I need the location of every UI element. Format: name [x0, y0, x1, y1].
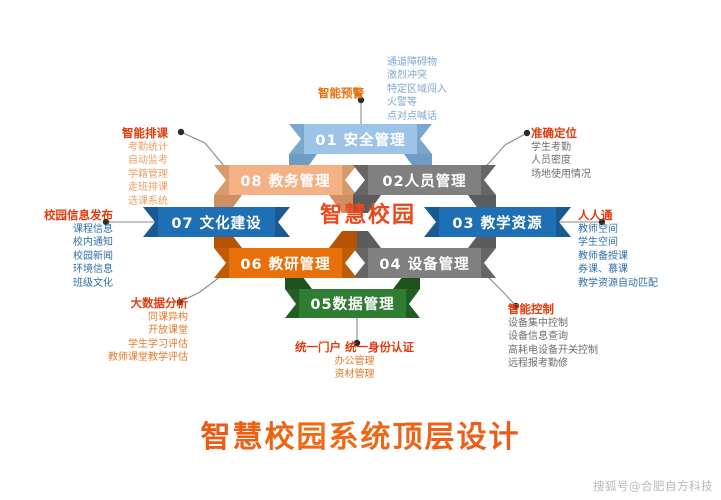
list-item: 特定区域闯入	[387, 83, 447, 96]
annotation-warning-head: 智能预警	[318, 86, 364, 101]
annotation-smart-control-head: 智能控制	[508, 302, 598, 317]
annotation-warning: 智能预警	[318, 86, 364, 101]
list-item: 火警等	[387, 96, 447, 109]
block-06-label: 06 教研管理	[240, 253, 330, 274]
annotation-portal-head: 统一门户 统一身份认证	[295, 340, 414, 355]
list-item: 通道障碍物	[387, 56, 447, 69]
block-03-label: 03 教学资源	[452, 212, 542, 233]
list-item: 自动监考	[122, 154, 168, 167]
center-wordmark: 智慧校园	[303, 197, 433, 229]
list-item: 校园新闻	[44, 250, 113, 263]
annotation-campus-info: 校园信息发布 课程信息 校内通知 校园新闻 环境信息 班级文化	[44, 208, 113, 290]
block-08-academic-affairs[interactable]: 08 教务管理	[229, 165, 342, 195]
annotation-bigdata-head: 大数据分析	[108, 296, 188, 311]
list-item: 走班排课	[122, 181, 168, 194]
block-04-label: 04 设备管理	[379, 253, 469, 274]
list-item: 教师课堂教学评估	[108, 351, 188, 364]
page-title: 智慧校园系统顶层设计	[0, 412, 721, 456]
list-item: 券课、慕课	[578, 263, 658, 276]
block-03-teaching-resources[interactable]: 03 教学资源	[439, 207, 556, 237]
list-item: 人员密度	[531, 154, 591, 167]
annotation-campus-info-head: 校园信息发布	[44, 208, 113, 223]
list-item: 设备集中控制	[508, 317, 598, 330]
list-item: 考勤统计	[122, 141, 168, 154]
block-07-culture-construction[interactable]: 07 文化建设	[158, 207, 275, 237]
list-item: 设备信息查询	[508, 330, 598, 343]
block-07-label: 07 文化建设	[171, 212, 261, 233]
list-item: 场地使用情况	[531, 168, 591, 181]
list-item: 校内通知	[44, 236, 113, 249]
list-item: 教师空间	[578, 223, 658, 236]
list-item: 学生空间	[578, 236, 658, 249]
list-item: 远程报考勤修	[508, 357, 598, 370]
annotation-scheduling-head: 智能排课	[122, 126, 168, 141]
block-06-research-management[interactable]: 06 教研管理	[229, 248, 342, 278]
list-item: 同课异构	[108, 311, 188, 324]
watermark: 搜狐号@合肥自方科技	[593, 478, 713, 494]
list-item: 课程信息	[44, 223, 113, 236]
annotation-warning-items: 通道障碍物 激烈冲突 特定区域闯入 火警等 点对点喊话	[387, 56, 447, 123]
annotation-smart-control: 智能控制 设备集中控制 设备信息查询 高耗电设备开关控制 远程报考勤修	[508, 302, 598, 371]
block-02-label: 02人员管理	[382, 170, 466, 191]
block-02-personnel-management[interactable]: 02人员管理	[368, 165, 481, 195]
annotation-bigdata: 大数据分析 同课异构 开放课堂 学生学习评估 教师课堂教学评估	[108, 296, 188, 365]
list-item: 点对点喊话	[387, 110, 447, 123]
block-05-label: 05数据管理	[310, 293, 394, 314]
list-item: 资材管理	[295, 368, 414, 381]
list-item: 开放课堂	[108, 324, 188, 337]
list-item: 班级文化	[44, 277, 113, 290]
list-item: 学生学习评估	[108, 338, 188, 351]
annotation-scheduling: 智能排课 考勤统计 自动监考 学籍管理 走班排课 选课系统	[122, 126, 168, 208]
diagram-canvas: 01 安全管理 02人员管理 03 教学资源 04 设备管理 05数据管理 06…	[0, 0, 721, 500]
block-04-equipment-management[interactable]: 04 设备管理	[368, 248, 481, 278]
annotation-renrentong: 人人通 教师空间 学生空间 教师备授课 券课、慕课 教学资源自动匹配	[578, 208, 658, 290]
list-item: 高耗电设备开关控制	[508, 344, 598, 357]
block-01-label: 01 安全管理	[315, 129, 405, 150]
annotation-portal: 统一门户 统一身份认证 办公管理 资材管理	[295, 340, 414, 382]
list-item: 选课系统	[122, 195, 168, 208]
list-item: 办公管理	[295, 355, 414, 368]
list-item: 学生考勤	[531, 141, 591, 154]
block-08-label: 08 教务管理	[240, 170, 330, 191]
annotation-location-head: 准确定位	[531, 126, 591, 141]
annotation-location: 准确定位 学生考勤 人员密度 场地使用情况	[531, 126, 591, 181]
list-item: 学籍管理	[122, 168, 168, 181]
list-item: 环境信息	[44, 263, 113, 276]
annotation-renrentong-head: 人人通	[578, 208, 658, 223]
list-item: 激烈冲突	[387, 69, 447, 82]
list-item: 教师备授课	[578, 250, 658, 263]
block-01-safety-management[interactable]: 01 安全管理	[304, 124, 417, 154]
list-item: 教学资源自动匹配	[578, 277, 658, 290]
block-05-data-management[interactable]: 05数据管理	[299, 289, 406, 318]
